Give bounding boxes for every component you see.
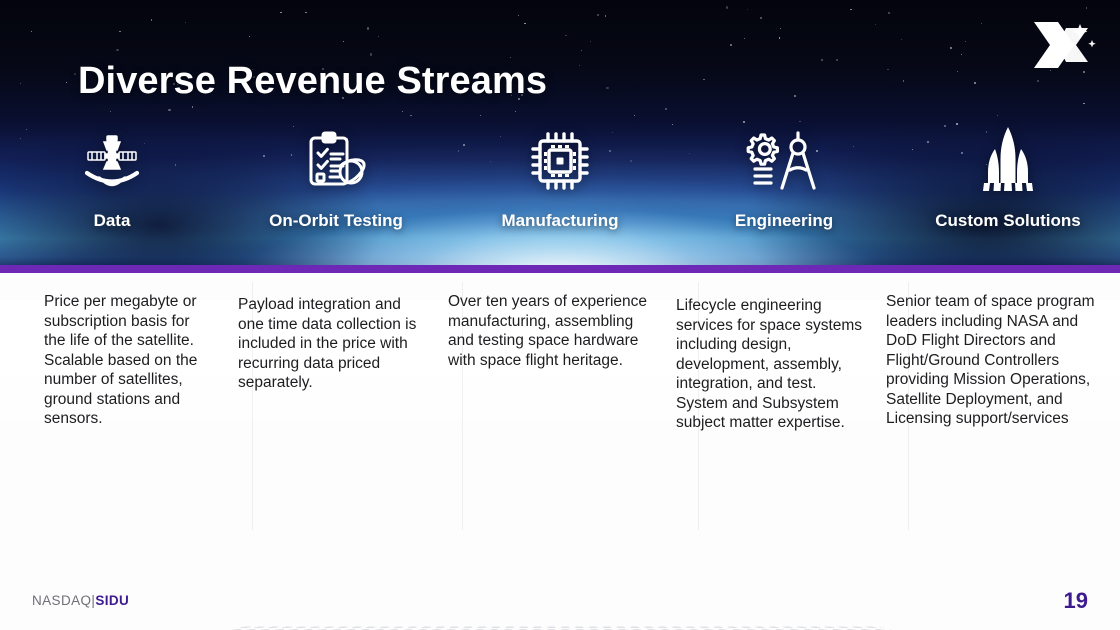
- column-custom-solutions: Senior team of space program leaders inc…: [886, 292, 1120, 433]
- pillar-row: Data: [0, 125, 1120, 260]
- pillar-label-custom-solutions: Custom Solutions: [935, 211, 1080, 231]
- slide: Diverse Revenue Streams: [0, 0, 1120, 630]
- column-data: Price per megabyte or subscription basis…: [0, 292, 230, 433]
- exchange-label: NASDAQ|: [32, 593, 95, 608]
- microchip-icon: [527, 125, 593, 197]
- column-engineering: Lifecycle engineering services for space…: [676, 292, 886, 433]
- pillar-manufacturing[interactable]: Manufacturing: [448, 125, 672, 260]
- column-text-manufacturing: Over ten years of experience manufacturi…: [448, 292, 656, 370]
- pillar-label-engineering: Engineering: [735, 211, 833, 231]
- satellite-icon: [75, 125, 149, 197]
- page-number: 19: [1064, 588, 1088, 614]
- column-text-on-orbit-testing: Payload integration and one time data co…: [238, 295, 424, 393]
- pillar-label-manufacturing: Manufacturing: [501, 211, 618, 231]
- column-text-data: Price per megabyte or subscription basis…: [44, 292, 208, 429]
- column-text-custom-solutions: Senior team of space program leaders inc…: [886, 292, 1102, 429]
- stock-ticker: NASDAQ|SIDU: [32, 593, 129, 608]
- dot-grid-pattern: [0, 626, 1120, 630]
- pillar-engineering[interactable]: Engineering: [672, 125, 896, 260]
- description-columns: Price per megabyte or subscription basis…: [0, 292, 1120, 433]
- column-text-engineering: Lifecycle engineering services for space…: [676, 296, 868, 433]
- ticker-symbol: SIDU: [95, 593, 129, 608]
- column-on-orbit-testing: Payload integration and one time data co…: [230, 292, 440, 433]
- clipboard-planet-icon: [301, 125, 371, 197]
- pillar-custom-solutions[interactable]: Custom Solutions: [896, 125, 1120, 260]
- pillar-data[interactable]: Data: [0, 125, 224, 260]
- gear-compass-icon: [746, 125, 822, 197]
- pillar-on-orbit-testing[interactable]: On-Orbit Testing: [224, 125, 448, 260]
- pillar-label-on-orbit-testing: On-Orbit Testing: [269, 211, 403, 231]
- company-logo: [1018, 14, 1102, 76]
- pillar-label-data: Data: [94, 211, 131, 231]
- purple-divider-bar: [0, 265, 1120, 273]
- page-title: Diverse Revenue Streams: [78, 60, 547, 103]
- rocket-launch-icon: [975, 125, 1041, 197]
- column-manufacturing: Over ten years of experience manufacturi…: [440, 292, 676, 433]
